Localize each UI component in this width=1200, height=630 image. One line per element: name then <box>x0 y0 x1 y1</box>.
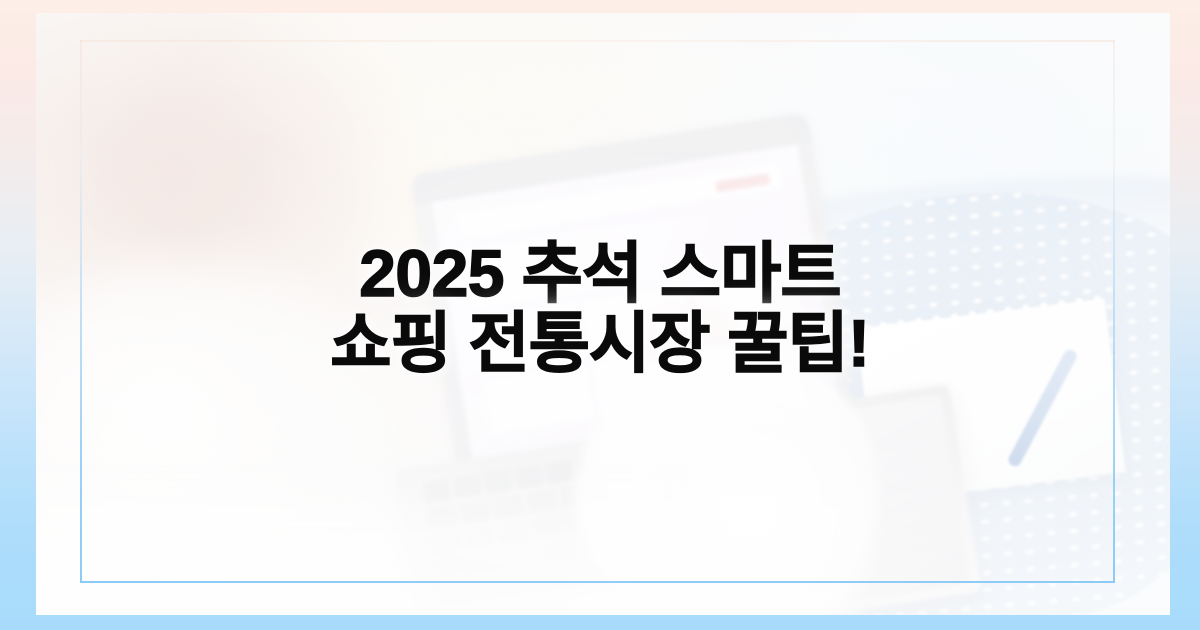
headline-line-2: 쇼핑 전통시장 꿀팁! <box>0 308 1200 378</box>
headline: 2025 추석 스마트 쇼핑 전통시장 꿀팁! <box>0 238 1200 378</box>
promo-banner: 2025 추석 스마트 쇼핑 전통시장 꿀팁! <box>0 0 1200 630</box>
headline-line-1: 2025 추석 스마트 <box>0 238 1200 308</box>
